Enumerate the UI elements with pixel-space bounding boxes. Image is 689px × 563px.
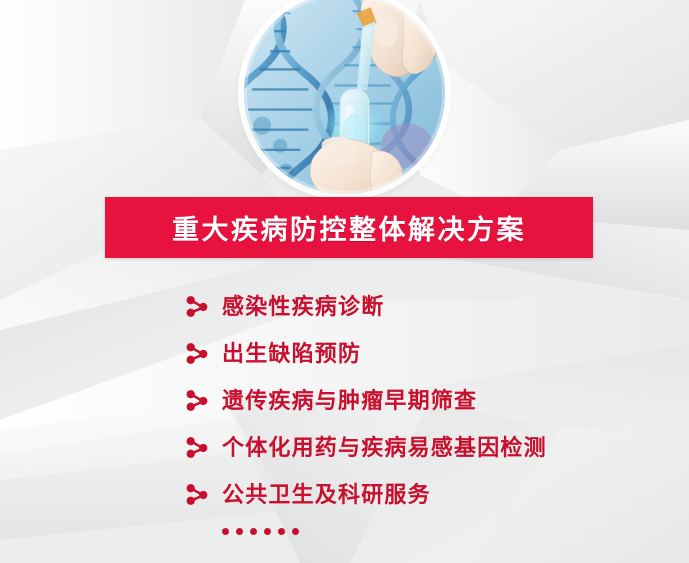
list-item[interactable]: 遗传疾病与肿瘤早期筛查 <box>183 377 653 424</box>
molecule-node-icon <box>183 293 210 320</box>
ellipsis-dot <box>236 528 243 535</box>
list-item-label: 出生缺陷预防 <box>222 343 361 365</box>
list-item[interactable]: 个体化用药与疾病易感基因检测 <box>183 424 653 471</box>
hero-circle <box>244 0 445 194</box>
list-item[interactable]: 感染性疾病诊断 <box>183 283 653 330</box>
poster-root: 重大疾病防控整体解决方案 感染性疾病诊断 <box>0 0 689 563</box>
feature-list: 感染性疾病诊断 出生缺陷预防 <box>183 283 653 518</box>
title-banner: 重大疾病防控整体解决方案 <box>105 197 593 258</box>
ellipsis-indicator <box>222 528 299 535</box>
list-item[interactable]: 出生缺陷预防 <box>183 330 653 377</box>
ellipsis-dot <box>264 528 271 535</box>
molecule-node-icon <box>183 481 210 508</box>
molecule-node-icon <box>183 340 210 367</box>
list-item[interactable]: 公共卫生及科研服务 <box>183 471 653 518</box>
list-item-label: 遗传疾病与肿瘤早期筛查 <box>222 390 477 412</box>
ellipsis-dot <box>292 528 299 535</box>
ellipsis-dot <box>278 528 285 535</box>
page-title: 重大疾病防控整体解决方案 <box>172 208 526 247</box>
list-item-label: 个体化用药与疾病易感基因检测 <box>222 437 547 459</box>
ellipsis-dot <box>250 528 257 535</box>
molecule-node-icon <box>183 434 210 461</box>
ellipsis-dot <box>222 528 229 535</box>
dna-lab-photo <box>244 0 445 194</box>
list-item-label: 感染性疾病诊断 <box>222 296 384 318</box>
list-item-label: 公共卫生及科研服务 <box>222 484 431 506</box>
molecule-node-icon <box>183 387 210 414</box>
